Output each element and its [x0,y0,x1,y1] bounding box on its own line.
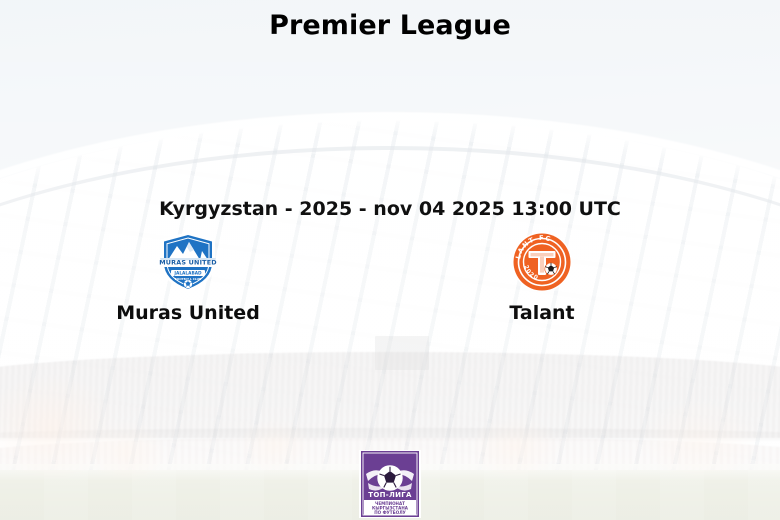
league-badge-slot: ТОП-ЛИГА ЧЕМПИОНАТ КЫРГЫЗСТАНА ПО ФУТБОЛ… [0,450,780,518]
away-crest-slot: TALANT FC 2020 [412,230,672,294]
card-content: Premier League Kyrgyzstan - 2025 - nov 0… [0,0,780,520]
muras-united-crest-icon: MURAS UNITED JALALABAD FOOTBALL CLUB [156,230,220,294]
talant-fc-crest-icon: TALANT FC 2020 [511,231,573,293]
top-liga-badge-icon[interactable]: ТОП-ЛИГА ЧЕМПИОНАТ КЫРГЫЗСТАНА ПО ФУТБОЛ… [359,450,421,518]
home-team-block[interactable]: MURAS UNITED JALALABAD FOOTBALL CLUB Mur… [58,230,318,324]
svg-text:ТОП-ЛИГА: ТОП-ЛИГА [368,491,412,499]
fixture-meta-line: Kyrgyzstan - 2025 - nov 04 2025 13:00 UT… [0,198,780,220]
home-crest-slot: MURAS UNITED JALALABAD FOOTBALL CLUB [58,230,318,294]
away-team-block[interactable]: TALANT FC 2020 Talant [412,230,672,324]
svg-text:JALALABAD: JALALABAD [173,271,202,277]
home-team-name: Muras United [58,302,318,324]
away-team-name: Talant [412,302,672,324]
page-title: Premier League [0,10,780,41]
svg-text:MURAS UNITED: MURAS UNITED [159,259,217,267]
svg-text:ПО ФУТБОЛУ: ПО ФУТБОЛУ [374,510,406,515]
match-preview-card: Premier League Kyrgyzstan - 2025 - nov 0… [0,0,780,520]
